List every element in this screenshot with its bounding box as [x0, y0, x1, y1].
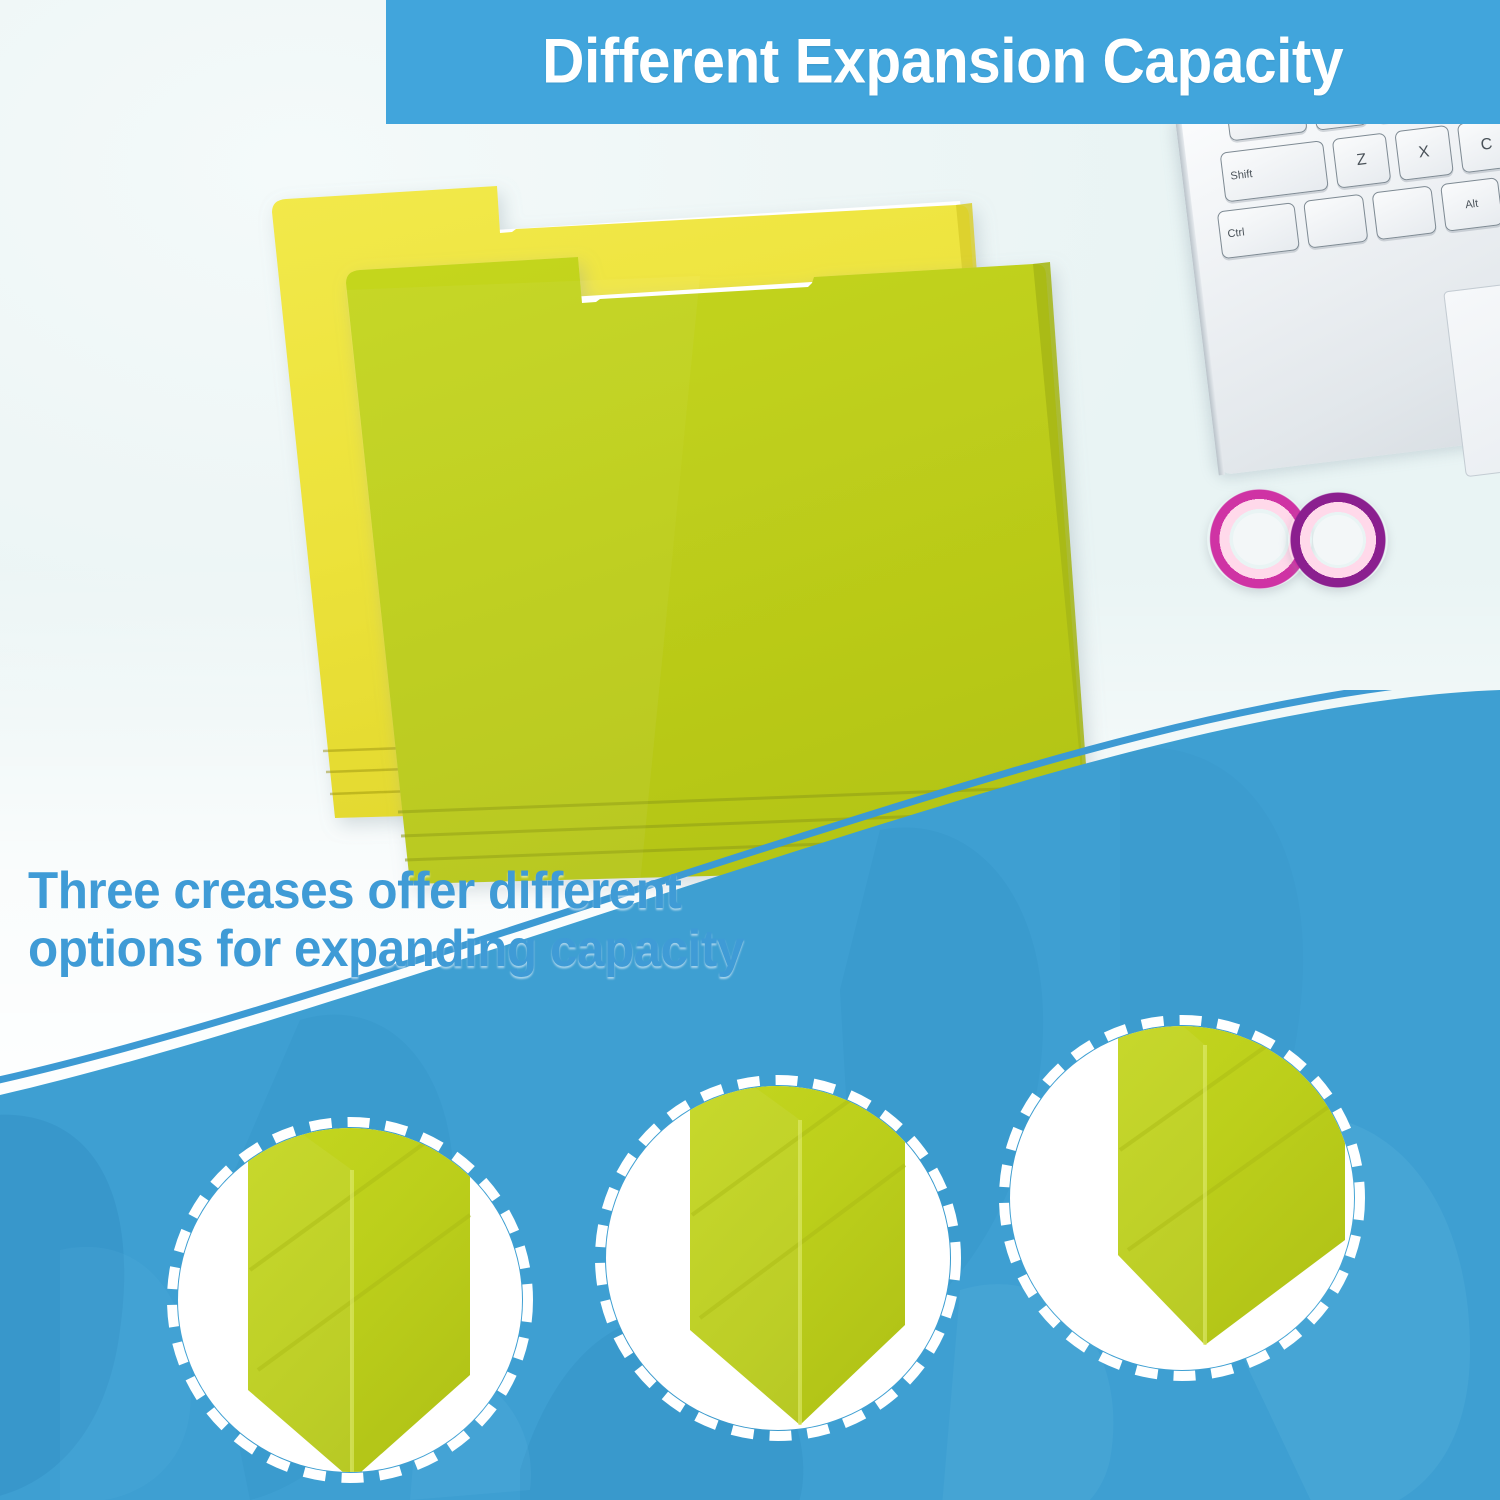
- crease-closeup-1[interactable]: [172, 1080, 528, 1480]
- caption-line-1: Three creases offer different: [28, 862, 928, 920]
- product-infographic: Caps A Shift Z X C Ctrl Alt: [0, 0, 1500, 1500]
- crease-closeup-3[interactable]: [1004, 1000, 1360, 1376]
- header-banner: Different Expansion Capacity: [386, 0, 1500, 124]
- caption-text: Three creases offer different options fo…: [28, 862, 928, 978]
- crease-closeup-2[interactable]: [600, 1030, 956, 1436]
- caption-line-2: options for expanding capacity: [28, 920, 928, 978]
- crease-closeup-circles: [0, 1000, 1500, 1500]
- page-title: Different Expansion Capacity: [386, 31, 1500, 94]
